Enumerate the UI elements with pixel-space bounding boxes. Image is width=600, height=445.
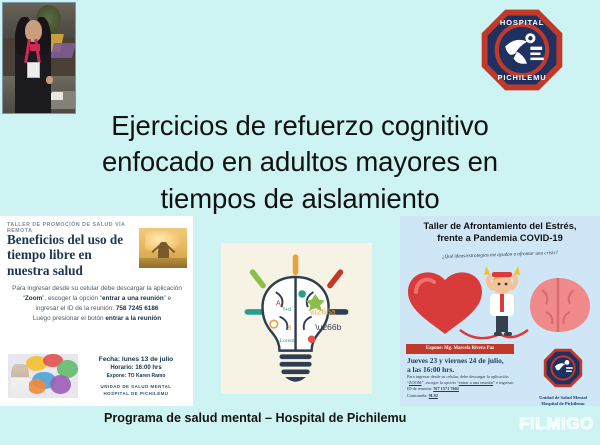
slide-canvas: HOSPITAL PICHILEMU Ejercicios de refuerz… bbox=[0, 0, 600, 445]
flyer-right-title: Taller de Afrontamiento del Estrés, fren… bbox=[404, 220, 596, 244]
flyer-right-speaker-text: Expone: Mg. Marcela Rivera Paz bbox=[406, 344, 514, 354]
title-line-2: enfocado en adultos mayores en bbox=[38, 144, 562, 180]
flyer-right-title-line2: frente a Pandemia COVID-19 bbox=[404, 232, 596, 244]
footer-caption: Programa de salud mental – Hospital de P… bbox=[104, 411, 406, 425]
fr-small-p3: ” e ingresar: bbox=[493, 380, 514, 385]
flyer-right-when-line1: Jueves 23 y viernes 24 de julio, bbox=[407, 356, 527, 365]
svg-text:HOSPITAL: HOSPITAL bbox=[500, 18, 544, 27]
flyer-left-speaker: Expone: TO Karen Ramo bbox=[86, 373, 186, 379]
fr-small-option: entrar a una reunión bbox=[459, 380, 493, 385]
photo-id-badge bbox=[27, 62, 39, 77]
flyer-left-unit-line2: HOSPITAL DE PICHILEMU bbox=[86, 391, 186, 398]
heart-person-brain-illustration bbox=[400, 260, 600, 340]
flyer-left-meta: Fecha: lunes 13 de julio Horario: 16:00 … bbox=[86, 356, 186, 397]
title-line-1: Ejercicios de refuerzo cognitivo bbox=[38, 108, 562, 144]
mural-person bbox=[11, 364, 29, 398]
flyer-right-instructions: Para ingresar desde su celular, debe des… bbox=[407, 374, 525, 399]
flyer-right-logo-block: Unidad de Salud Mental Hospital de Pichi… bbox=[532, 348, 594, 406]
flyer-right-logo-caption: Unidad de Salud Mental Hospital de Pichi… bbox=[532, 395, 594, 406]
brain-lightbulb-icon: A f+d 3 Lorem \u266a \u266b bbox=[221, 243, 372, 394]
svg-text:3: 3 bbox=[287, 323, 291, 332]
fr-small-zoom: ZOOM bbox=[409, 380, 422, 385]
photo-person-hand bbox=[46, 76, 52, 85]
flyer-right-logo-caption-line2: Hospital de Pichilemu bbox=[532, 401, 594, 406]
mural-blob-purple bbox=[50, 375, 71, 394]
flyer-left-photo bbox=[139, 228, 187, 268]
flyer-left-time: Horario: 16:00 hrs bbox=[86, 365, 186, 371]
title-line-3: tiempos de aislamiento bbox=[38, 181, 562, 217]
fl-body-p2: ”, escoger la opción “ bbox=[42, 295, 102, 302]
svg-text:\u266b: \u266b bbox=[315, 322, 341, 332]
fl-body-p4: Luego presionar el botón bbox=[33, 315, 105, 322]
brain-lightbulb-card: A f+d 3 Lorem \u266a \u266b bbox=[221, 243, 372, 394]
flyer-right-speaker-bar: Expone: Mg. Marcela Rivera Paz bbox=[406, 344, 514, 354]
fr-id-label: ID de reunión: bbox=[407, 386, 433, 391]
flyer-left-unit-line1: UNIDAD DE SALUD MENTAL bbox=[86, 384, 186, 391]
svg-text:PICHILEMU: PICHILEMU bbox=[497, 73, 546, 82]
mural-blob-orange bbox=[28, 379, 46, 395]
fr-small-p2: ”, escoger la opción “ bbox=[422, 380, 459, 385]
flyer-right-title-line1: Taller de Afrontamiento del Estrés, bbox=[404, 220, 596, 232]
fl-body-button: entrar a la reunión bbox=[105, 315, 161, 322]
flyer-left: TALLER DE PROMOCIÓN DE SALUD VÍA REMOTA … bbox=[0, 216, 193, 406]
hospital-pichilemu-logo-icon: HOSPITAL PICHILEMU bbox=[480, 8, 564, 92]
flyer-right-meeting-id: 767 1571 7602 bbox=[433, 386, 459, 391]
flyer-right-when: Jueves 23 y viernes 24 de julio, a las 1… bbox=[407, 356, 527, 375]
flyer-right-password: 9L92 bbox=[429, 393, 438, 398]
svg-text:\u266a: \u266a bbox=[310, 307, 336, 317]
fl-body-option: entrar a una reunión bbox=[102, 295, 164, 302]
photo-grass bbox=[139, 258, 187, 268]
flyer-left-mural-photo bbox=[8, 354, 78, 398]
slide-title: Ejercicios de refuerzo cognitivo enfocad… bbox=[38, 108, 562, 217]
photo-purple-shape bbox=[50, 43, 76, 58]
filmigo-watermark: FILMIGO bbox=[519, 414, 594, 434]
hospital-pichilemu-logo-icon-small bbox=[543, 348, 583, 388]
photo-shirt-logo bbox=[30, 44, 39, 52]
presenter-photo bbox=[2, 2, 76, 114]
svg-text:Lorem: Lorem bbox=[280, 338, 296, 344]
flyer-left-body: Para ingresar desde su celular debe desc… bbox=[12, 284, 182, 324]
flyer-left-date: Fecha: lunes 13 de julio bbox=[86, 356, 186, 363]
flyer-right: Taller de Afrontamiento del Estrés, fren… bbox=[400, 216, 600, 406]
svg-text:f+d: f+d bbox=[283, 307, 291, 313]
flyer-left-heading: Beneficios del uso de tiempo libre en nu… bbox=[7, 232, 133, 278]
fl-body-zoom: Zoom bbox=[25, 295, 42, 302]
fr-pass-label: Contraseña: bbox=[407, 393, 429, 398]
fl-meeting-id: 758 7245 6186 bbox=[116, 305, 159, 312]
